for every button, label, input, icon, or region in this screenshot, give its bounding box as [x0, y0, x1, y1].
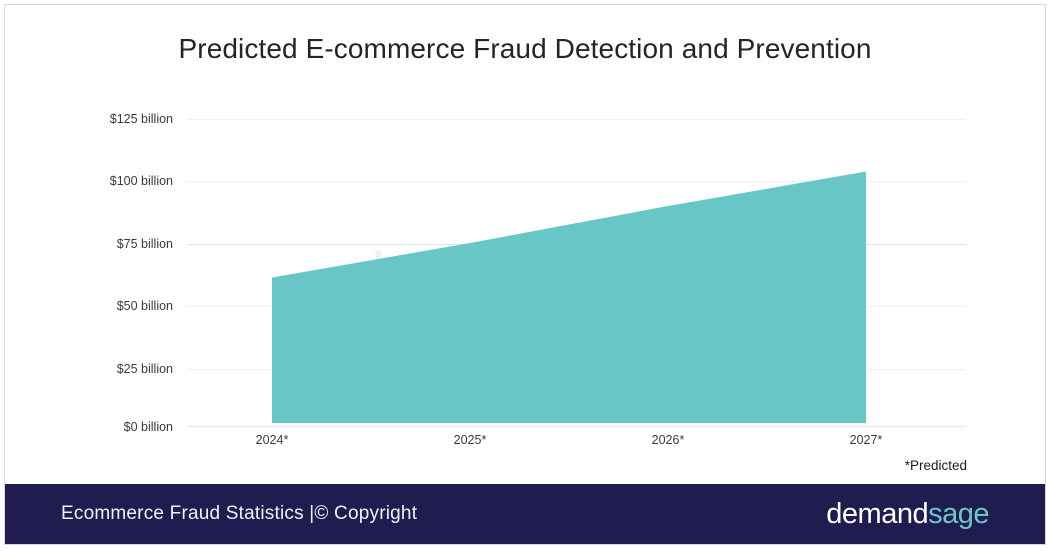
- x-axis-tick-2024: 2024*: [256, 433, 289, 447]
- page-title: Predicted E-commerce Fraud Detection and…: [5, 33, 1045, 65]
- plot-area: [187, 115, 966, 427]
- gridline-100: [187, 181, 966, 182]
- x-axis-tick-2026: 2026*: [652, 433, 685, 447]
- gridline-75: [187, 244, 966, 245]
- y-axis-tick-25: $25 billion: [117, 362, 173, 376]
- x-axis-baseline: [187, 426, 966, 427]
- x-axis-tick-2025: 2025*: [454, 433, 487, 447]
- x-axis-tick-2027: 2027*: [850, 433, 883, 447]
- y-axis-tick-0: $0 billion: [124, 420, 173, 434]
- footer-caption: Ecommerce Fraud Statistics |© Copyright: [61, 503, 417, 525]
- logo-text-sage: sage: [928, 498, 989, 530]
- y-axis-tick-125: $125 billion: [110, 112, 173, 126]
- demandsage-logo: demandsage: [826, 498, 989, 531]
- chart-card: Predicted E-commerce Fraud Detection and…: [4, 4, 1046, 545]
- x-axis-labels: 2024* 2025* 2026* 2027*: [5, 433, 1045, 451]
- y-axis-tick-75: $75 billion: [117, 237, 173, 251]
- y-axis-tick-100: $100 billion: [110, 174, 173, 188]
- predicted-footnote: *Predicted: [905, 458, 967, 473]
- gridline-50: [187, 306, 966, 307]
- footer-bar: Ecommerce Fraud Statistics |© Copyright …: [5, 484, 1045, 544]
- logo-text-demand: demand: [826, 498, 928, 530]
- gridline-125: [187, 119, 966, 120]
- y-axis-tick-50: $50 billion: [117, 299, 173, 313]
- gridline-25: [187, 369, 966, 370]
- y-axis-labels: $125 billion $100 billion $75 billion $5…: [5, 115, 181, 427]
